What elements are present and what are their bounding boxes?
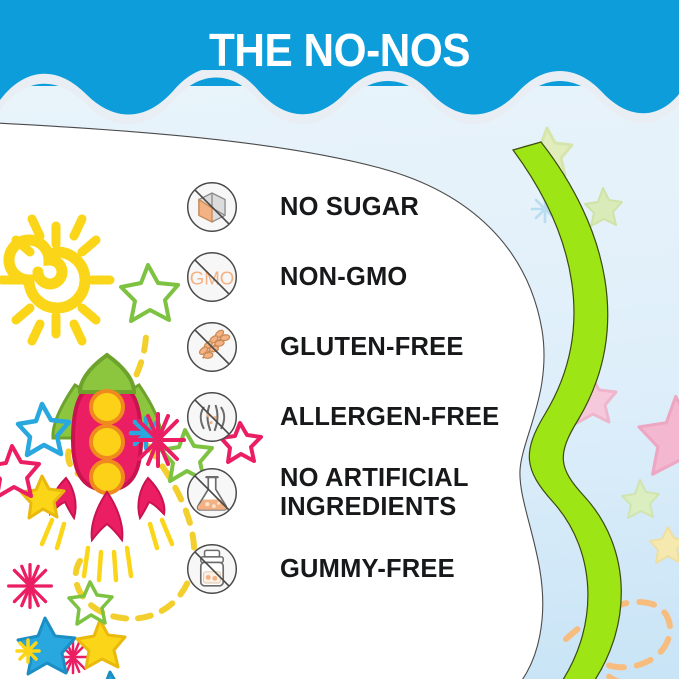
list-item: GMO NON-GMO [184, 242, 544, 312]
infographic-canvas: THE NO-NOS NO SUGAR [0, 0, 679, 679]
gmo-icon: GMO [184, 249, 240, 305]
allergen-icon [184, 389, 240, 445]
list-item: ALLERGEN-FREE [184, 382, 544, 452]
list-item-label: GLUTEN-FREE [280, 333, 464, 362]
list-item-label: NO SUGAR [280, 193, 419, 222]
list-item: GUMMY-FREE [184, 534, 544, 604]
list-item: NO SUGAR [184, 172, 544, 242]
wheat-icon [184, 319, 240, 375]
flask-icon [184, 465, 240, 521]
list-item-label: GUMMY-FREE [280, 555, 455, 584]
list-item: GLUTEN-FREE [184, 312, 544, 382]
list-item: NO ARTIFICIAL INGREDIENTS [184, 452, 544, 534]
page-title: THE NO-NOS [27, 23, 652, 77]
no-nos-list: NO SUGAR GMO NON-GMO [184, 172, 544, 604]
sugar-cube-icon [184, 179, 240, 235]
list-item-label: NO ARTIFICIAL INGREDIENTS [280, 464, 469, 521]
header-banner: THE NO-NOS [0, 0, 679, 120]
list-item-label: ALLERGEN-FREE [280, 403, 499, 432]
gummy-bottle-icon [184, 541, 240, 597]
list-item-label: NON-GMO [280, 263, 407, 292]
